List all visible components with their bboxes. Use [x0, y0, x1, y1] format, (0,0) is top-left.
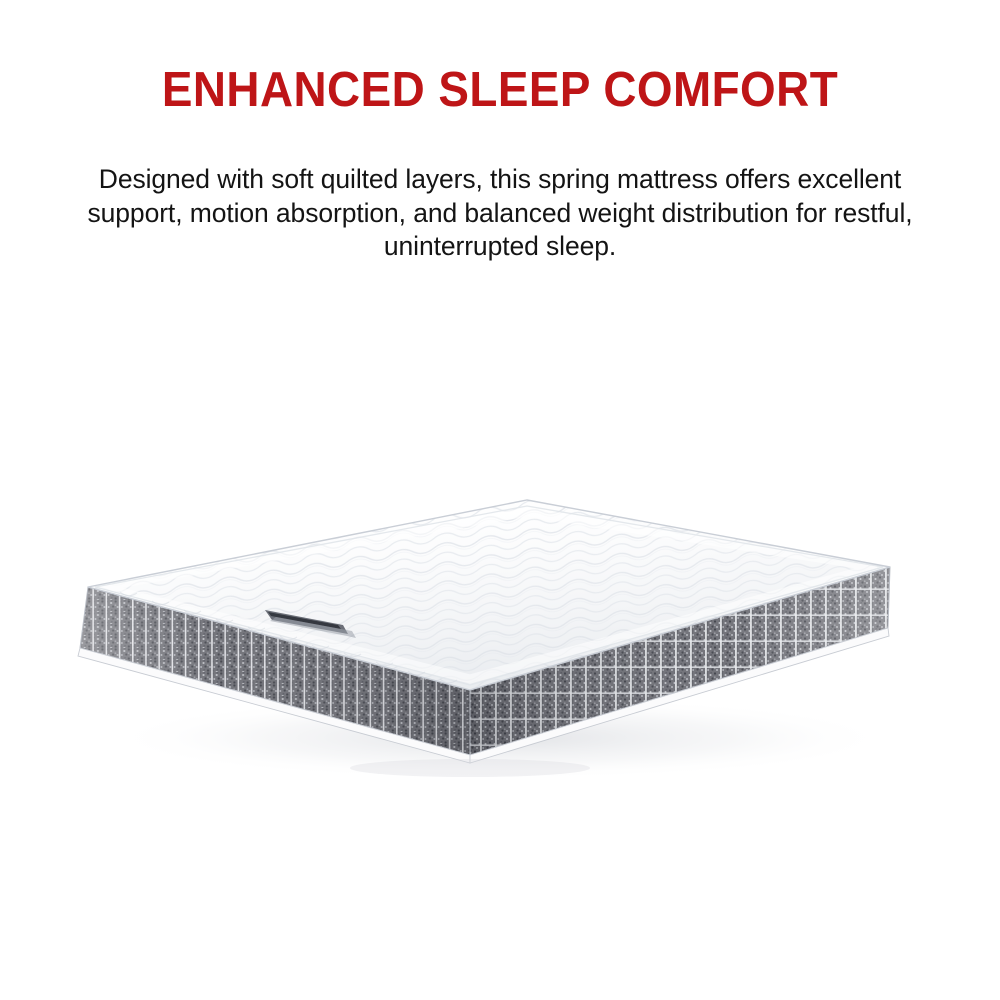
product-image	[0, 420, 1000, 840]
corner-contact-shadow	[350, 759, 590, 777]
description-text: Designed with soft quilted layers, this …	[70, 163, 930, 264]
page-title: ENHANCED SLEEP COMFORT	[33, 62, 968, 118]
mattress-illustration	[0, 420, 1000, 840]
promo-page: ENHANCED SLEEP COMFORT Designed with sof…	[0, 0, 1000, 1000]
